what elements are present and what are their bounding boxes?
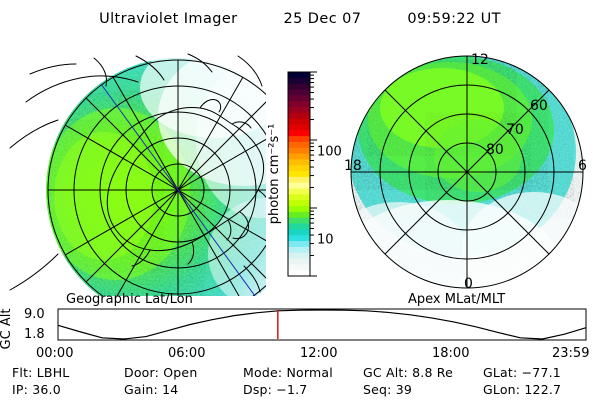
altitude-tick-max: 9.0: [24, 307, 45, 322]
time-tick-4: 23:59: [552, 346, 589, 361]
status-row: IP: 36.0 Gain: 14 Dsp: −1.7 Seq: 39 GLon…: [0, 381, 600, 398]
geographic-polar-plot[interactable]: [8, 44, 266, 296]
status-mode-value: Normal: [286, 365, 332, 380]
mlat-label-80: 80: [486, 142, 504, 158]
colorbar-tick-10: 10: [317, 233, 334, 248]
status-seq-key: Seq:: [363, 382, 392, 397]
status-gain-value: 14: [162, 382, 178, 397]
status-flt: Flt: LBHL: [12, 365, 69, 380]
mlt-label-6: 6: [578, 158, 587, 174]
status-glon: GLon: 122.7: [483, 382, 561, 397]
status-ip-key: IP:: [12, 382, 28, 397]
time-tick-1: 06:00: [168, 346, 205, 361]
status-seq-value: 39: [396, 382, 412, 397]
instrument-title: Ultraviolet Imager: [99, 11, 237, 27]
altitude-trace: [58, 310, 586, 339]
status-mode-key: Mode:: [243, 365, 282, 380]
status-gc-alt-value: 8.8 Re: [412, 365, 453, 380]
status-door-value: Open: [163, 365, 197, 380]
status-dsp-value: −1.7: [276, 382, 307, 397]
mlat-label-70: 70: [506, 122, 524, 138]
observation-date: 25 Dec 07: [284, 11, 362, 27]
apex-polar-plot[interactable]: 12 18 6 0 80 70 60: [338, 44, 596, 296]
status-gain: Gain: 14: [124, 382, 178, 397]
status-glat-value: −77.1: [522, 365, 561, 380]
mlt-label-12: 12: [471, 52, 489, 68]
apex-grid: [351, 56, 583, 288]
mlt-label-18: 18: [344, 158, 362, 174]
status-dsp: Dsp: −1.7: [243, 382, 307, 397]
status-glat: GLat: −77.1: [483, 365, 561, 380]
status-seq: Seq: 39: [363, 382, 412, 397]
status-gain-key: Gain:: [124, 382, 158, 397]
status-door-key: Door:: [124, 365, 159, 380]
colorbar-axis-label: photon cm⁻²s⁻¹: [267, 124, 282, 225]
status-glon-value: 122.7: [524, 382, 561, 397]
time-axis-labels: 00:00 06:00 12:00 18:00 23:59: [36, 346, 589, 361]
status-ip: IP: 36.0: [12, 382, 61, 397]
altitude-panel[interactable]: Geographic Lat/Lon Apex MLat/MLT GC Alt …: [0, 292, 600, 362]
status-readout: Flt: LBHL Door: Open Mode: Normal GC Alt…: [0, 364, 600, 400]
geographic-panel-title: Geographic Lat/Lon: [66, 292, 193, 307]
time-tick-3: 18:00: [432, 346, 469, 361]
colorbar-panel: 100 10 photon cm⁻²s⁻¹: [264, 60, 344, 296]
apex-panel-title: Apex MLat/MLT: [408, 292, 505, 307]
status-gc-alt-key: GC Alt:: [363, 365, 408, 380]
colorbar-ticks: [310, 72, 317, 276]
altitude-axis-label: GC Alt: [0, 309, 14, 350]
status-glat-key: GLat:: [483, 365, 517, 380]
observation-time: 09:59:22 UT: [407, 11, 501, 27]
colorbar-gradient: [288, 72, 310, 277]
status-glon-key: GLon:: [483, 382, 520, 397]
mlt-label-0: 0: [464, 276, 473, 292]
altitude-plot-frame: [58, 309, 586, 340]
time-tick-2: 12:00: [300, 346, 337, 361]
status-door: Door: Open: [124, 365, 197, 380]
status-dsp-key: Dsp:: [243, 382, 272, 397]
uvi-display: Ultraviolet Imager 25 Dec 07 09:59:22 UT: [0, 0, 600, 400]
status-ip-value: 36.0: [32, 382, 61, 397]
status-flt-value: LBHL: [37, 365, 70, 380]
status-gc-alt: GC Alt: 8.8 Re: [363, 365, 453, 380]
altitude-tick-min: 1.8: [24, 327, 45, 342]
status-flt-key: Flt:: [12, 365, 33, 380]
header: Ultraviolet Imager 25 Dec 07 09:59:22 UT: [0, 8, 600, 30]
time-tick-0: 00:00: [36, 346, 73, 361]
status-mode: Mode: Normal: [243, 365, 333, 380]
status-row: Flt: LBHL Door: Open Mode: Normal GC Alt…: [0, 364, 600, 381]
mlat-label-60: 60: [530, 98, 548, 114]
